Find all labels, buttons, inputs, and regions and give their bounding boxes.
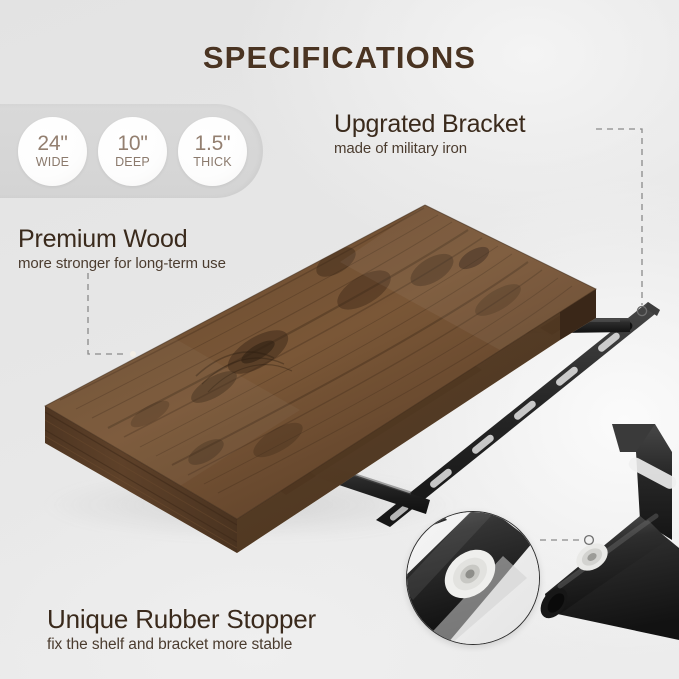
badge-width-label: WIDE [36, 156, 69, 169]
badge-thickness-label: THICK [193, 156, 232, 169]
callout-stopper-subtext: fix the shelf and bracket more stable [47, 636, 316, 654]
callout-bracket: Upgrated Bracket made of military iron [334, 110, 525, 157]
badge-thickness: 1.5" THICK [178, 117, 247, 186]
product-illustration [0, 0, 679, 679]
badge-depth: 10" DEEP [98, 117, 167, 186]
badge-width: 24" WIDE [18, 117, 87, 186]
badge-depth-value: 10" [117, 133, 147, 154]
badge-width-value: 24" [37, 133, 67, 154]
specification-infographic: SPECIFICATIONS [0, 0, 679, 679]
callout-rubber-stopper: Unique Rubber Stopper fix the shelf and … [47, 604, 316, 654]
callout-bracket-heading: Upgrated Bracket [334, 110, 525, 139]
callout-wood-heading: Premium Wood [18, 225, 226, 254]
callout-premium-wood: Premium Wood more stronger for long-term… [18, 225, 226, 272]
dimension-badges: 24" WIDE 10" DEEP 1.5" THICK [0, 104, 281, 198]
callout-bracket-subtext: made of military iron [334, 140, 525, 157]
badge-thickness-value: 1.5" [195, 133, 231, 154]
rubber-stopper-magnifier [406, 511, 540, 645]
badge-depth-label: DEEP [115, 156, 150, 169]
callout-stopper-heading: Unique Rubber Stopper [47, 604, 316, 635]
bracket-foreground [535, 424, 679, 640]
callout-wood-subtext: more stronger for long-term use [18, 255, 226, 272]
